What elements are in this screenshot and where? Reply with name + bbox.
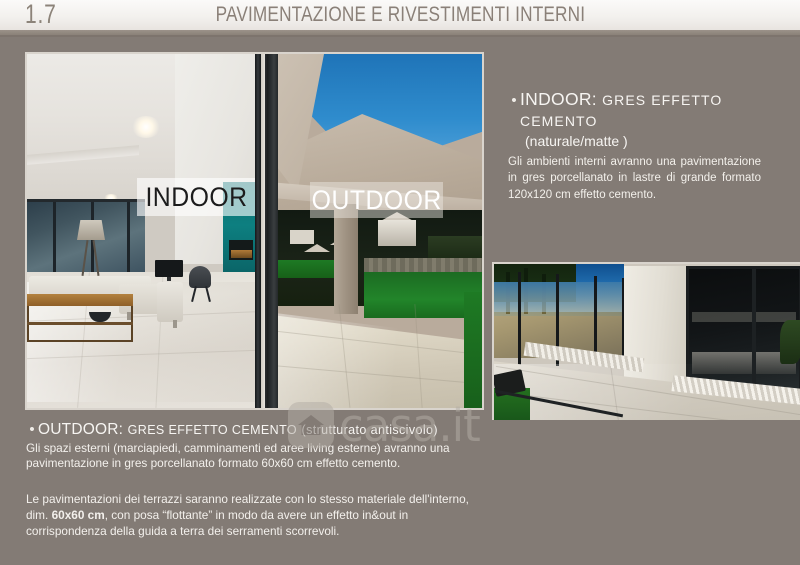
outdoor-bullet-row: • OUTDOOR: GRES EFFETTO CEMENTO (struttu… — [26, 418, 476, 439]
indoor-finish: (naturale/matte ) — [508, 133, 788, 149]
bullet-icon: • — [508, 88, 520, 108]
outdoor-label-text: OUTDOOR — [311, 185, 441, 216]
television — [155, 260, 183, 277]
indoor-description: Gli ambienti interni avranno una pavimen… — [508, 154, 761, 203]
distant-building — [290, 230, 314, 244]
indoor-bullet-row: • INDOOR: GRES EFFETTO CEMENTO — [508, 88, 788, 131]
door-jamb — [268, 54, 278, 408]
page-header: 1.7 PAVIMENTAZIONE E RIVESTIMENTI INTERN… — [0, 0, 800, 30]
outdoor-material: GRES EFFETTO CEMENTO — [128, 423, 297, 437]
terrace-note: Le pavimentazioni dei terrazzi saranno r… — [26, 492, 478, 539]
armchair — [189, 266, 211, 288]
page-title-text: PAVIMENTAZIONE E RIVESTIMENTI INTERNI — [215, 3, 585, 27]
interior-scene — [27, 54, 255, 408]
outdoor-label: OUTDOOR: — [38, 421, 123, 438]
console-table-shelf — [27, 322, 133, 325]
fireplace-logs — [231, 250, 252, 258]
recessed-light-icon — [131, 116, 161, 138]
outdoor-description: Gli spazi esterni (marciapiedi, camminam… — [26, 441, 476, 472]
shrub — [780, 320, 800, 364]
television-stand — [167, 277, 171, 281]
window-mullion — [518, 272, 521, 368]
indoor-outdoor-comparison-photo: INDOOR OUTDOOR — [25, 52, 484, 410]
header-divider-shadow — [0, 35, 800, 37]
bullet-icon: • — [26, 418, 38, 437]
outdoor-heading: OUTDOOR: GRES EFFETTO CEMENTO (struttura… — [38, 421, 438, 439]
neighbour-house — [378, 220, 416, 246]
structural-column — [334, 204, 358, 314]
outdoor-specification-block: • OUTDOOR: GRES EFFETTO CEMENTO (struttu… — [26, 418, 476, 472]
sofa-leg — [173, 320, 177, 328]
indoor-label-badge: INDOOR — [137, 178, 255, 216]
sofa-arm — [157, 282, 183, 322]
window-mullion — [127, 202, 130, 274]
indoor-specification-block: • INDOOR: GRES EFFETTO CEMENTO (naturale… — [508, 88, 788, 203]
outdoor-description-line-1: Gli spazi esterni (marciapiedi, camminam… — [26, 441, 476, 456]
page-title: PAVIMENTAZIONE E RIVESTIMENTI INTERNI — [0, 3, 800, 27]
outdoor-scene — [268, 54, 482, 408]
hedge — [428, 236, 482, 260]
lawn-edge — [464, 292, 482, 408]
outdoor-label-badge: OUTDOOR — [310, 182, 443, 218]
outdoor-finish: (strutturato antiscivolo) — [302, 423, 438, 437]
indoor-label: INDOOR: — [520, 89, 597, 109]
window-sky-reflection — [494, 282, 624, 312]
indoor-label-text: INDOOR — [145, 182, 247, 213]
terrace-note-dimension: 60x60 cm — [52, 508, 105, 522]
window-mullion — [53, 202, 56, 274]
floor-lamp-shade — [77, 220, 105, 240]
outdoor-description-line-2: pavimentazione in gres porcellanato form… — [26, 456, 476, 471]
console-table-top — [27, 294, 133, 306]
exterior-terrace-photo — [492, 262, 800, 420]
indoor-heading: INDOOR: GRES EFFETTO CEMENTO — [520, 89, 788, 131]
